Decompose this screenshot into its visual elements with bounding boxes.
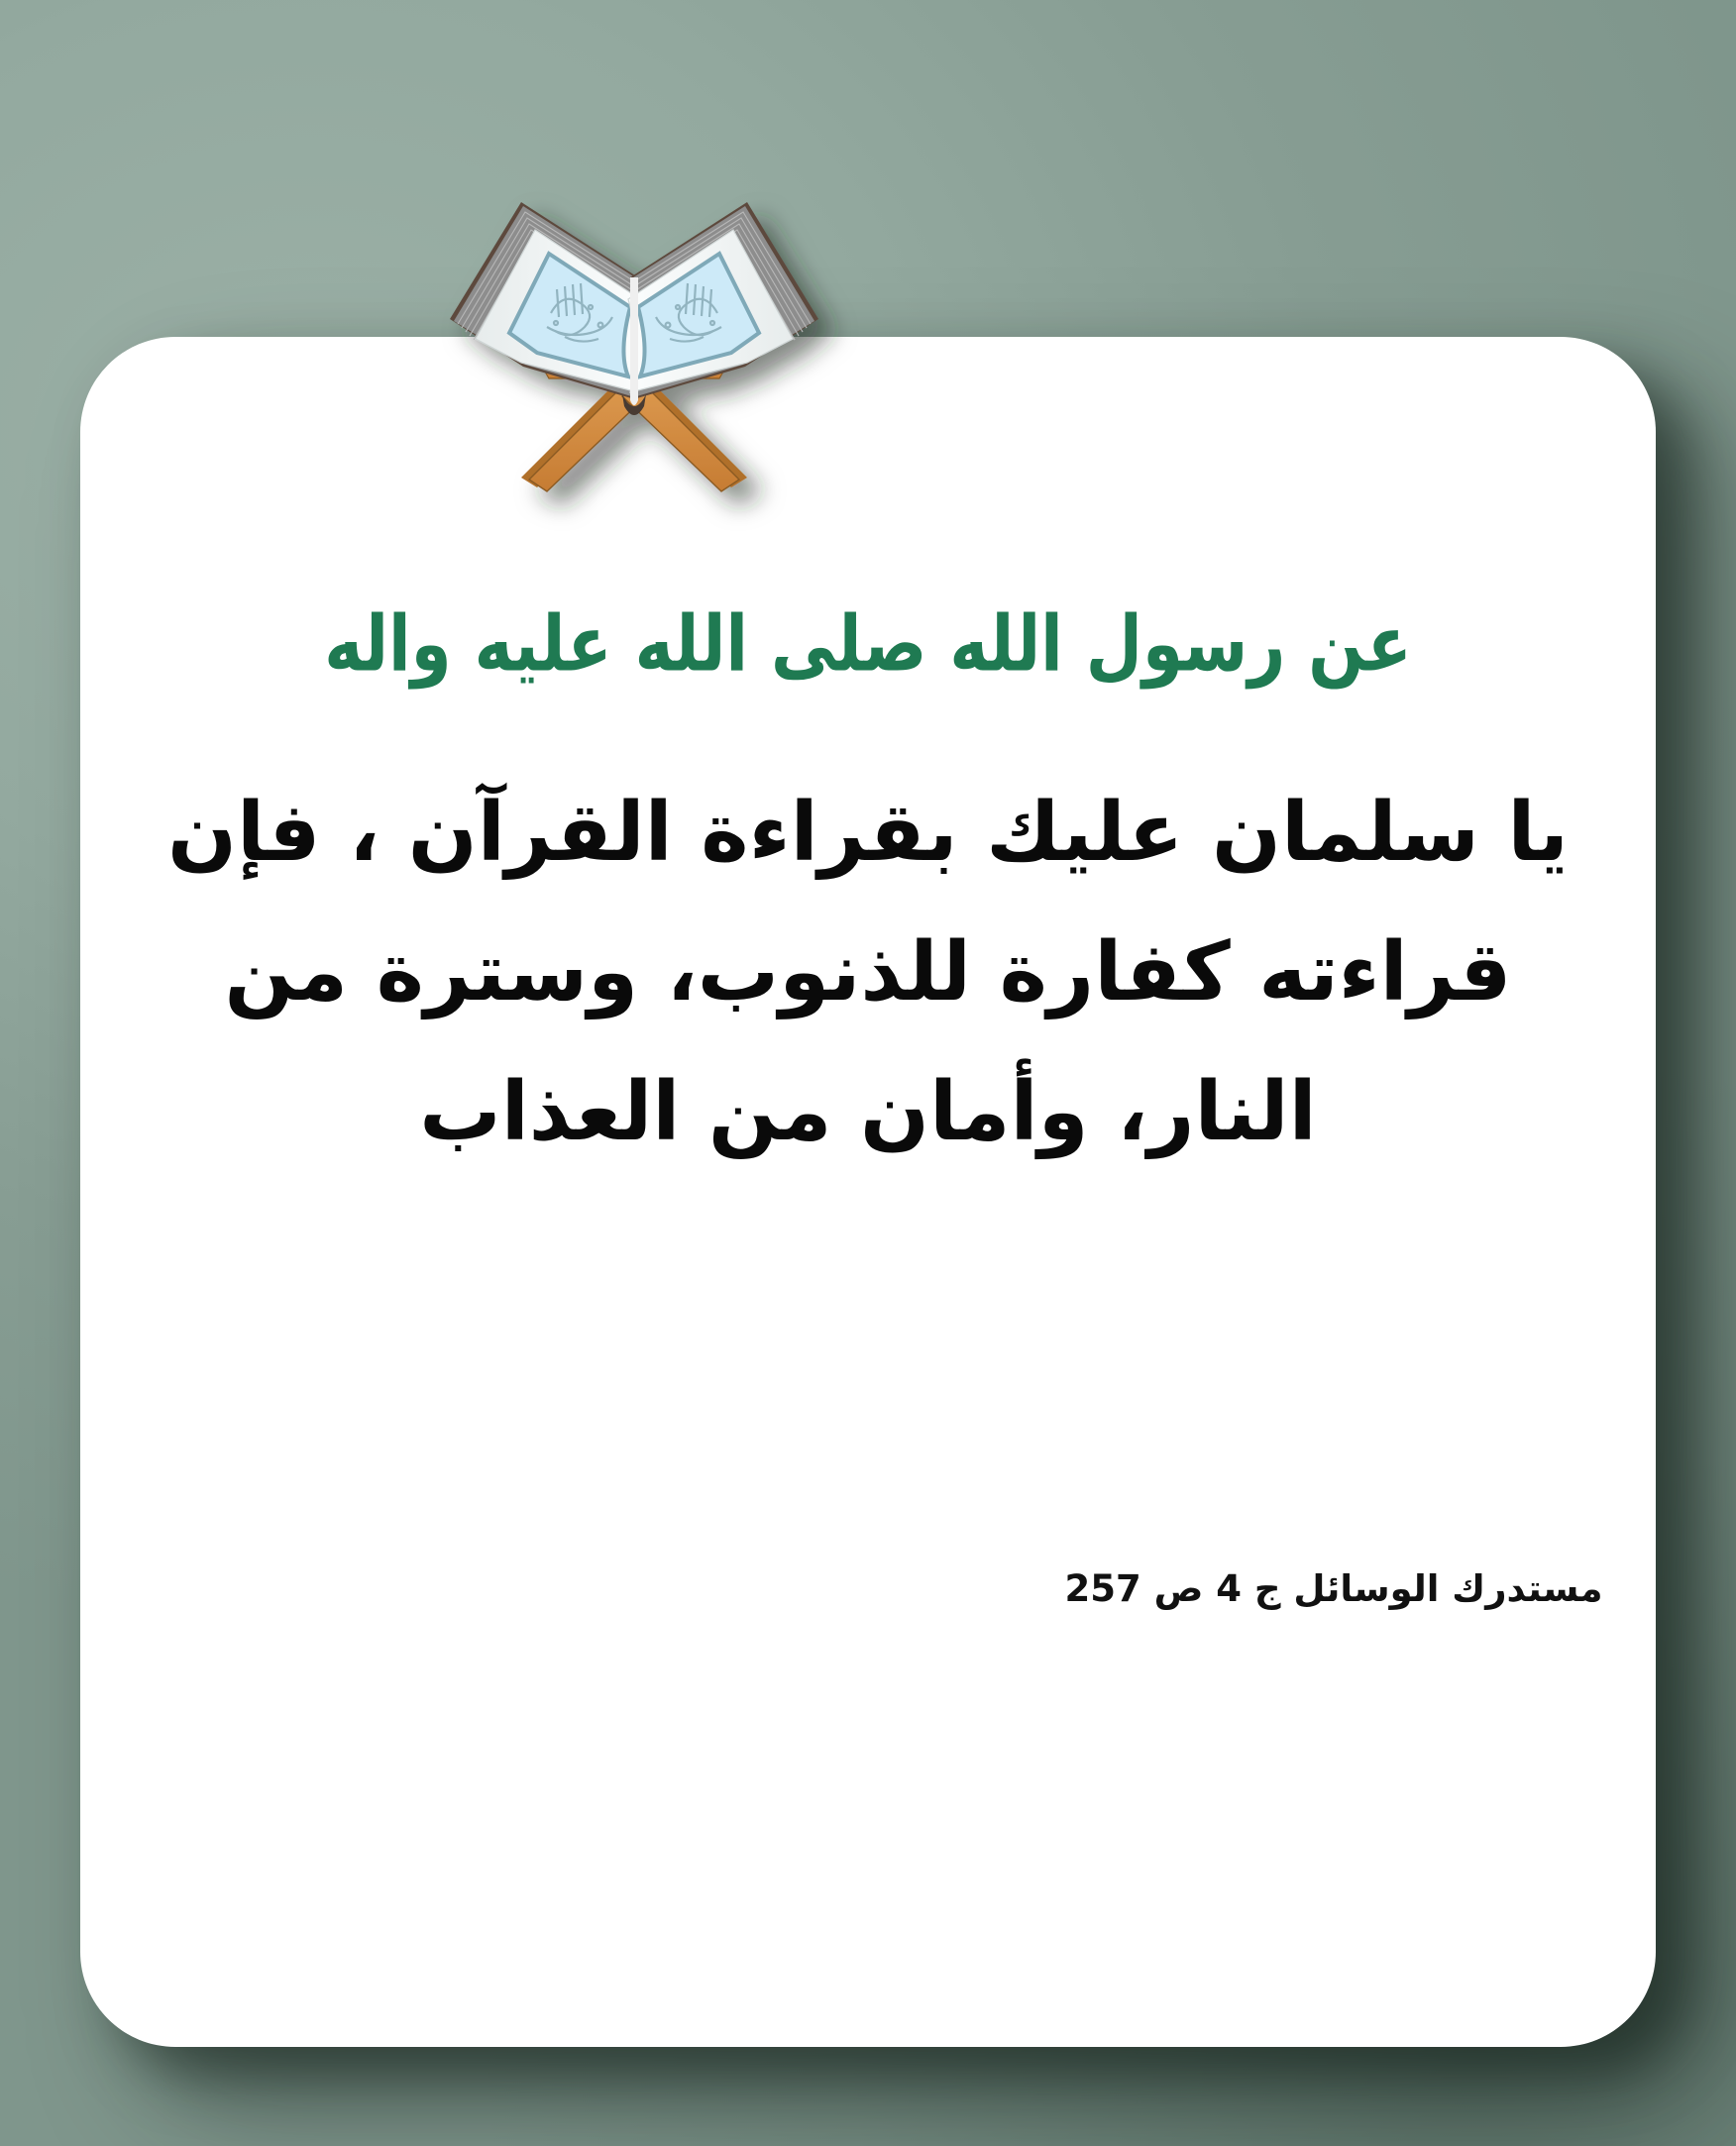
hadith-line-3: النار، وأمان من العذاب — [140, 1042, 1596, 1182]
hadith-line-1: يا سلمان عليك بقراءة القرآن ، فإن — [140, 763, 1596, 903]
card-content: عن رسول الله صلى الله عليه واله يا سلمان… — [80, 337, 1656, 2047]
source-citation: مستدرك الوسائل ج 4 ص 257 — [80, 1567, 1656, 1610]
hadith-line-2: قراءته كفارة للذنوب، وسترة من — [140, 903, 1596, 1042]
poster-canvas: عن رسول الله صلى الله عليه واله يا سلمان… — [0, 0, 1736, 2146]
hadith-body: يا سلمان عليك بقراءة القرآن ، فإن قراءته… — [140, 763, 1596, 1182]
hadith-attribution-heading: عن رسول الله صلى الله عليه واله — [80, 602, 1656, 688]
source-citation-text: مستدرك الوسائل ج 4 ص 257 — [1064, 1567, 1602, 1610]
